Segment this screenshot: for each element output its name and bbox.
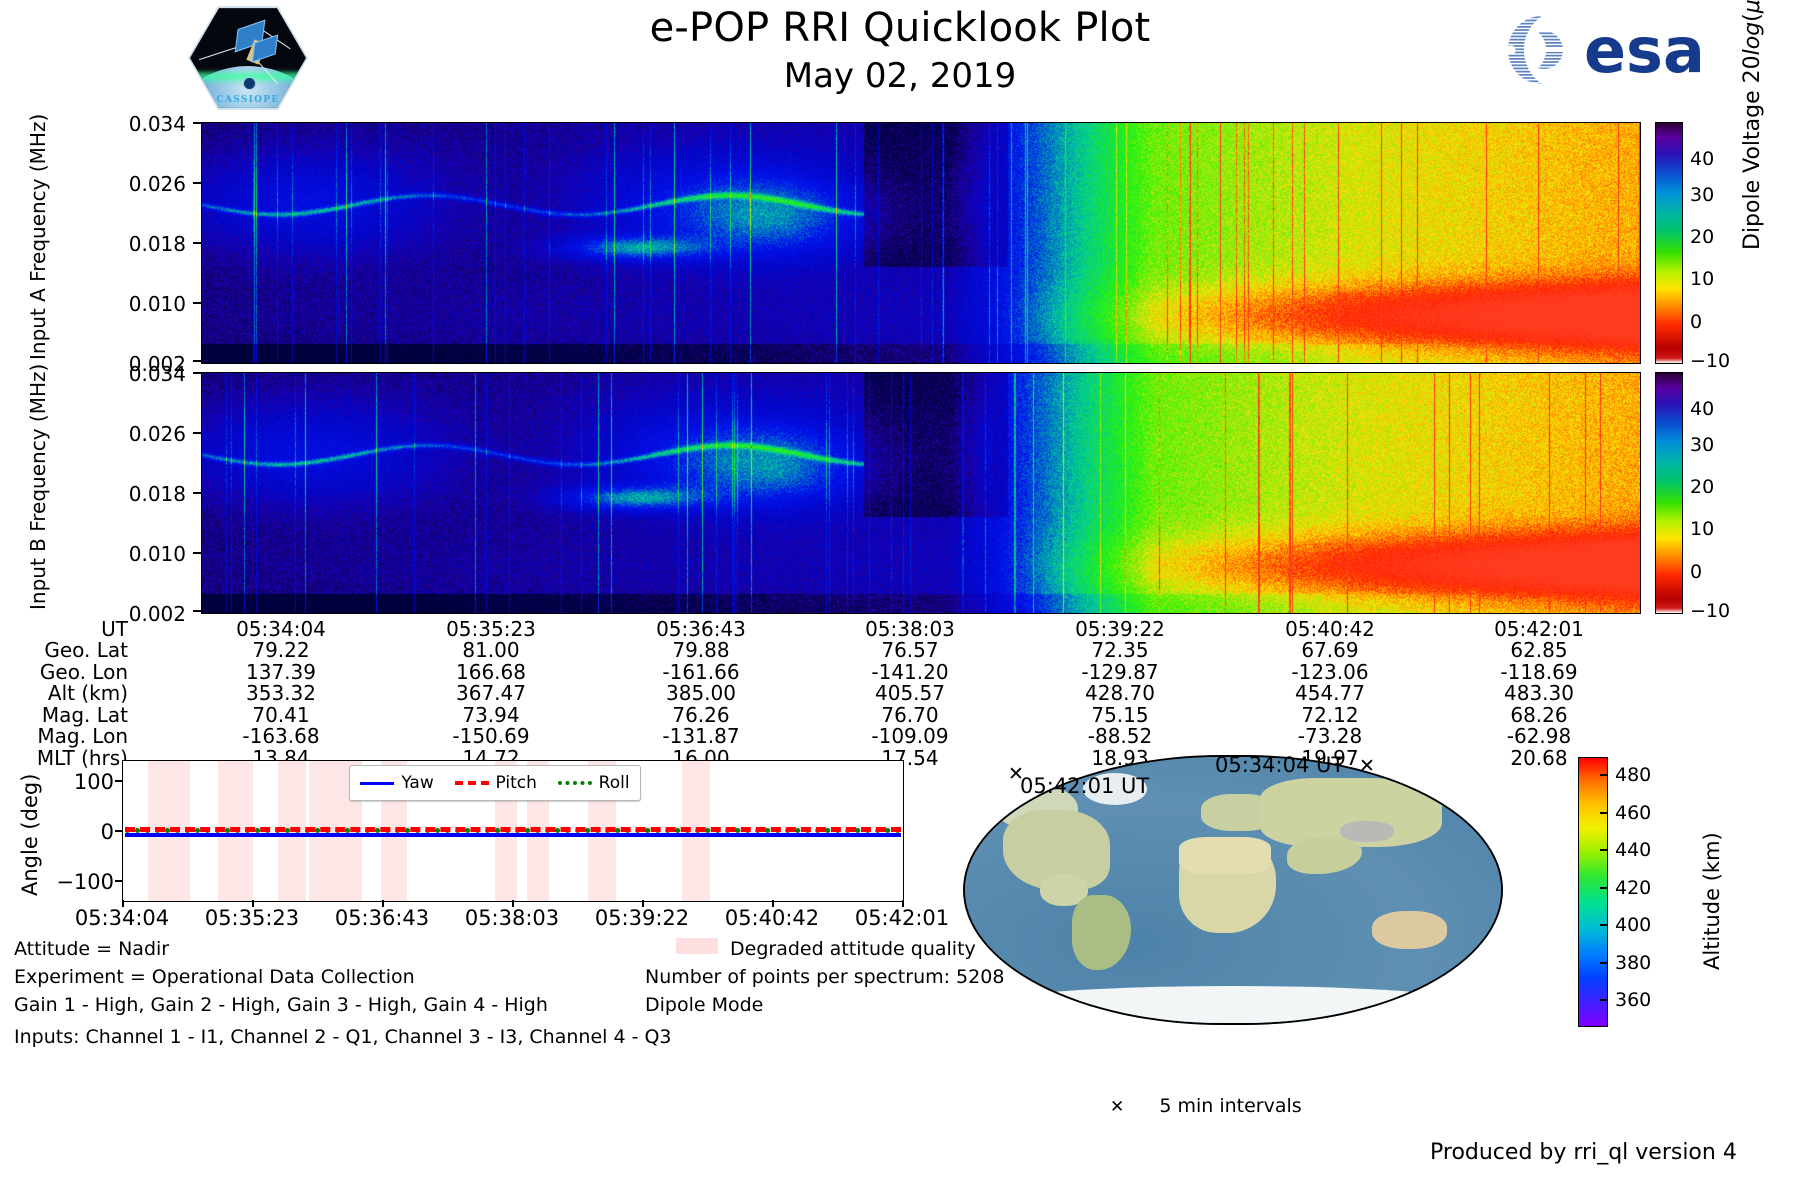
ytick: 0.018 <box>100 482 186 506</box>
spectrogram-a-ylabel: Input A Frequency (MHz) <box>26 114 50 360</box>
attitude-ylabel: Angle (deg) <box>18 774 42 896</box>
attitude-xtick: 05:39:22 <box>572 906 712 930</box>
footer-left-line-2: Experiment = Operational Data Collection <box>14 966 415 988</box>
cassiope-logo-text: CASSIOPE <box>190 95 306 105</box>
param-cell: -118.69 <box>1459 660 1619 684</box>
spectrogram-a-colorbar <box>1655 122 1683 364</box>
param-row: Mag. Lat70.4173.9476.2676.7075.1572.1268… <box>0 704 1800 726</box>
cbtick: 0 <box>1690 311 1702 333</box>
attitude-xtick: 05:38:03 <box>442 906 582 930</box>
map-colorbar-tick: 360 <box>1615 989 1651 1011</box>
param-cell: 76.57 <box>830 638 990 662</box>
param-cell: 137.39 <box>201 660 361 684</box>
produced-by-label: Produced by rri_ql version 4 <box>1430 1140 1737 1165</box>
param-cell: 70.41 <box>201 703 361 727</box>
legend-item-pitch: Pitch <box>455 773 537 793</box>
cbtick: 40 <box>1690 148 1714 170</box>
param-cell: -141.20 <box>830 660 990 684</box>
map-colorbar-tick: 440 <box>1615 839 1651 861</box>
param-row-label: Geo. Lat <box>0 638 128 662</box>
map-colorbar-tick: 460 <box>1615 802 1651 824</box>
map-colorbar-tick: 480 <box>1615 764 1651 786</box>
attitude-xtick: 05:40:42 <box>702 906 842 930</box>
param-cell: 05:40:42 <box>1250 617 1410 641</box>
footer-left-line-1: Attitude = Nadir <box>14 938 169 960</box>
track-marker-x: ✕ <box>1359 757 1375 776</box>
param-cell: 67.69 <box>1250 638 1410 662</box>
param-cell: 428.70 <box>1040 681 1200 705</box>
param-cell: -88.52 <box>1040 724 1200 748</box>
cbtick: 0 <box>1690 561 1702 583</box>
param-cell: 05:36:43 <box>621 617 781 641</box>
param-row: Mag. Lon-163.68-150.69-131.87-109.09-88.… <box>0 726 1800 748</box>
attitude-xtick: 05:34:04 <box>52 906 192 930</box>
param-cell: 166.68 <box>411 660 571 684</box>
footer-points-per-spectrum: Number of points per spectrum: 5208 <box>645 966 1004 988</box>
param-cell: 367.47 <box>411 681 571 705</box>
param-cell: 05:38:03 <box>830 617 990 641</box>
series-yaw-line <box>125 833 901 837</box>
marker-legend-label: 5 min intervals <box>1159 1095 1301 1117</box>
cassiope-logo: CASSIOPE <box>188 4 308 112</box>
param-cell: 76.26 <box>621 703 781 727</box>
spectrogram-b-colorbar <box>1655 372 1683 614</box>
map-colorbar <box>1578 757 1608 1027</box>
param-row-label: MLT (hrs) <box>0 746 128 770</box>
param-cell: -163.68 <box>201 724 361 748</box>
param-cell: 68.26 <box>1459 703 1619 727</box>
parameter-table: UT05:34:0405:35:2305:36:4305:38:0305:39:… <box>0 618 1800 769</box>
param-cell: 79.22 <box>201 638 361 662</box>
param-row-label: Alt (km) <box>0 681 128 705</box>
param-cell: 05:34:04 <box>201 617 361 641</box>
cbtick: 30 <box>1690 184 1714 206</box>
ytick: 0.018 <box>100 232 186 256</box>
ytick: 0.010 <box>100 542 186 566</box>
footer-degraded-label: Degraded attitude quality <box>730 938 976 960</box>
param-cell: -109.09 <box>830 724 990 748</box>
yaw-line-swatch <box>360 782 394 785</box>
spectrogram-input-b[interactable] <box>201 372 1641 614</box>
map-colorbar-tick: 380 <box>1615 952 1651 974</box>
param-row: Geo. Lat79.2281.0079.8876.5772.3567.6962… <box>0 640 1800 662</box>
map-colorbar-tick: 420 <box>1615 877 1651 899</box>
param-cell: -131.87 <box>621 724 781 748</box>
legend-item-roll: Roll <box>558 773 630 793</box>
marker-x-icon: ✕ <box>1110 1097 1124 1117</box>
footer-left-line-3: Gain 1 - High, Gain 2 - High, Gain 3 - H… <box>14 994 548 1016</box>
cbtick: 40 <box>1690 398 1714 420</box>
ytick: 0.026 <box>100 422 186 446</box>
ground-track-map[interactable]: ✕ ✕ 05:42:01 UT 05:34:04 UT <box>963 755 1503 1025</box>
ytick: 0.010 <box>100 292 186 316</box>
legend-label-pitch: Pitch <box>496 773 537 793</box>
att-ytick: 0 <box>44 820 114 844</box>
param-row-label: Geo. Lon <box>0 660 128 684</box>
spectrogram-b-ylabel: Input B Frequency (MHz) <box>26 364 50 610</box>
param-row: Geo. Lon137.39166.68-161.66-141.20-129.8… <box>0 661 1800 683</box>
param-cell: 81.00 <box>411 638 571 662</box>
attitude-legend: Yaw Pitch Roll <box>349 765 641 801</box>
map-marker-legend: ✕ 5 min intervals <box>1110 1095 1302 1117</box>
att-ytick: 100 <box>44 770 114 794</box>
ytick: 0.034 <box>100 362 186 386</box>
roll-line-swatch <box>558 781 592 785</box>
param-cell: 72.12 <box>1250 703 1410 727</box>
cbtick: 10 <box>1690 268 1714 290</box>
param-cell: 454.77 <box>1250 681 1410 705</box>
footer-dipole-mode: Dipole Mode <box>645 994 763 1016</box>
svg-text:esa: esa <box>1584 14 1705 87</box>
series-pitch-line <box>125 827 901 832</box>
param-cell: -73.28 <box>1250 724 1410 748</box>
param-row-label: UT <box>0 617 128 641</box>
param-cell: -129.87 <box>1040 660 1200 684</box>
spectrogram-input-a[interactable] <box>201 122 1641 364</box>
attitude-xtick: 05:42:01 <box>832 906 972 930</box>
title-main: e-POP RRI Quicklook Plot <box>430 2 1370 54</box>
param-cell: 405.57 <box>830 681 990 705</box>
param-row-label: Mag. Lat <box>0 703 128 727</box>
param-row: Alt (km)353.32367.47385.00405.57428.7045… <box>0 683 1800 705</box>
title-date: May 02, 2019 <box>430 54 1370 98</box>
param-cell: 75.15 <box>1040 703 1200 727</box>
map-label-end: 05:42:01 UT <box>1020 774 1149 798</box>
degraded-quality-swatch <box>676 938 718 954</box>
param-cell: 05:39:22 <box>1040 617 1200 641</box>
footer-left-line-4: Inputs: Channel 1 - I1, Channel 2 - Q1, … <box>14 1026 672 1048</box>
param-cell: 05:35:23 <box>411 617 571 641</box>
att-ytick: −100 <box>44 870 114 894</box>
pitch-line-swatch <box>455 781 489 785</box>
attitude-xtick: 05:36:43 <box>312 906 452 930</box>
param-cell: 353.32 <box>201 681 361 705</box>
ytick: 0.034 <box>100 112 186 136</box>
param-cell: -62.98 <box>1459 724 1619 748</box>
param-cell: 05:42:01 <box>1459 617 1619 641</box>
esa-logo: esa <box>1480 10 1780 90</box>
param-cell: 79.88 <box>621 638 781 662</box>
param-row: UT05:34:0405:35:2305:36:4305:38:0305:39:… <box>0 618 1800 640</box>
map-colorbar-label: Altitude (km) <box>1700 832 1724 970</box>
legend-label-roll: Roll <box>599 773 630 793</box>
map-label-start: 05:34:04 UT <box>1215 753 1344 777</box>
map-colorbar-tick: 400 <box>1615 914 1651 936</box>
cbtick: 20 <box>1690 476 1714 498</box>
param-row-label: Mag. Lon <box>0 724 128 748</box>
param-cell: -161.66 <box>621 660 781 684</box>
cbtick: 10 <box>1690 518 1714 540</box>
param-cell: 73.94 <box>411 703 571 727</box>
param-cell: 76.70 <box>830 703 990 727</box>
cbtick: 20 <box>1690 226 1714 248</box>
param-cell: 72.35 <box>1040 638 1200 662</box>
cbtick: −10 <box>1690 350 1730 372</box>
param-cell: -150.69 <box>411 724 571 748</box>
param-cell: 62.85 <box>1459 638 1619 662</box>
legend-label-yaw: Yaw <box>401 773 433 793</box>
ytick: 0.026 <box>100 172 186 196</box>
param-cell: 385.00 <box>621 681 781 705</box>
legend-item-yaw: Yaw <box>360 773 433 793</box>
param-cell: 483.30 <box>1459 681 1619 705</box>
cbtick: 30 <box>1690 434 1714 456</box>
param-cell: -123.06 <box>1250 660 1410 684</box>
attitude-xtick: 05:35:23 <box>182 906 322 930</box>
page-title: e-POP RRI Quicklook Plot May 02, 2019 <box>430 2 1370 98</box>
